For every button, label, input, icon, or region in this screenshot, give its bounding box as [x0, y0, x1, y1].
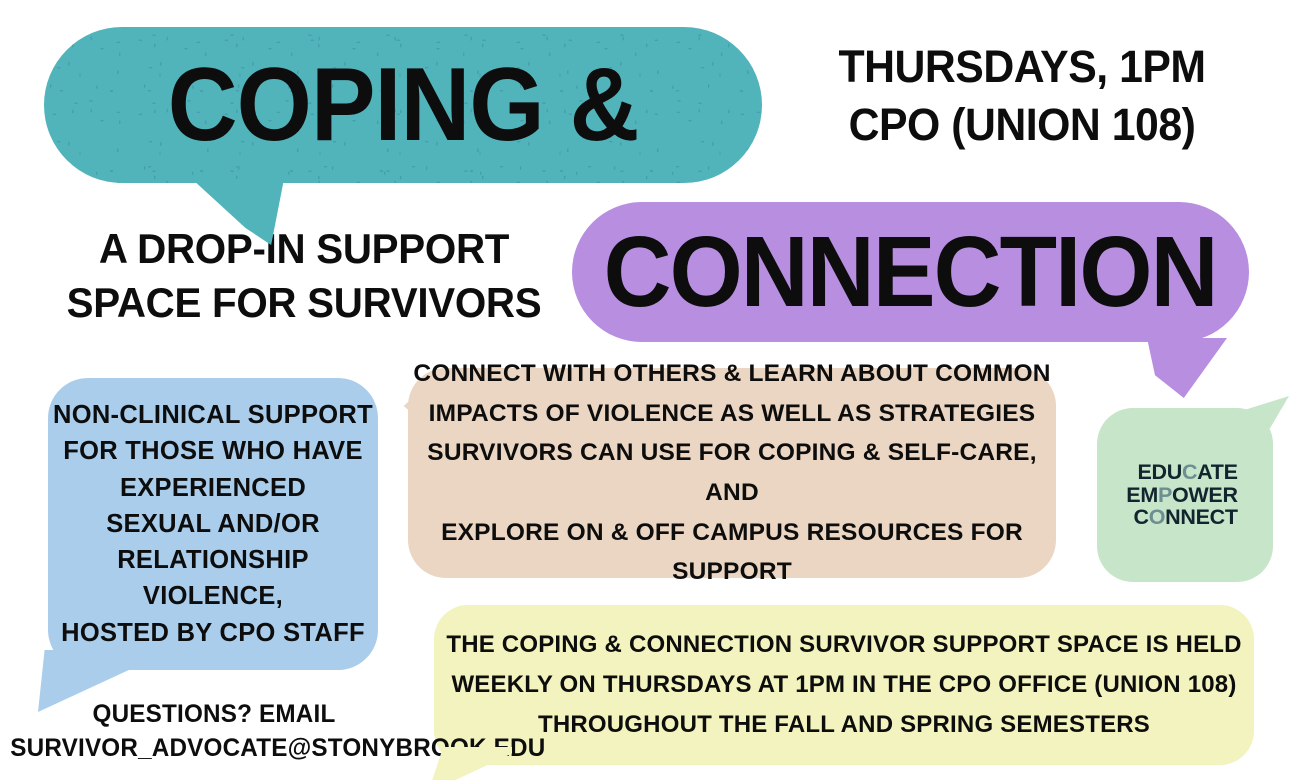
- contact-email-text: QUESTIONS? EMAIL SURVIVOR_ADVOCATE@STONY…: [10, 698, 417, 765]
- logo-line-empower: EMPOWER: [1126, 484, 1237, 506]
- logo-educate-part1: EDU: [1137, 460, 1182, 484]
- logo-empower-accent: P: [1158, 483, 1172, 507]
- logo-line-connect: CONNECT: [1126, 506, 1237, 528]
- non-clinical-support-text: NON-CLINICAL SUPPORT FOR THOSE WHO HAVE …: [48, 397, 378, 650]
- connection-bubble-tail: [1147, 338, 1227, 398]
- non-clinical-support-bubble: NON-CLINICAL SUPPORT FOR THOSE WHO HAVE …: [48, 378, 378, 670]
- cpo-logo: EDUCATE EMPOWER CONNECT: [1126, 461, 1243, 528]
- logo-empower-part1: EM: [1126, 483, 1158, 507]
- logo-empower-part2: OWER: [1172, 483, 1238, 507]
- connect-learn-bubble: CONNECT WITH OTHERS & LEARN ABOUT COMMON…: [408, 368, 1056, 578]
- weekly-schedule-bubble: THE COPING & CONNECTION SURVIVOR SUPPORT…: [434, 605, 1254, 765]
- connect-learn-text: CONNECT WITH OTHERS & LEARN ABOUT COMMON…: [408, 354, 1056, 592]
- connection-headline-text: CONNECTION: [604, 222, 1217, 322]
- connection-headline-bubble: CONNECTION: [572, 202, 1249, 342]
- educate-empower-connect-badge: EDUCATE EMPOWER CONNECT: [1097, 408, 1273, 582]
- logo-line-educate: EDUCATE: [1126, 461, 1237, 483]
- weekly-schedule-text: THE COPING & CONNECTION SURVIVOR SUPPORT…: [446, 625, 1241, 744]
- logo-connect-part1: C: [1133, 505, 1148, 529]
- schedule-heading: THURSDAYS, 1PM CPO (UNION 108): [823, 38, 1222, 153]
- logo-connect-accent: O: [1149, 505, 1165, 529]
- coping-headline-bubble: COPING &: [44, 27, 762, 183]
- logo-educate-accent: C: [1182, 460, 1197, 484]
- coping-headline-text: COPING &: [168, 53, 639, 157]
- logo-connect-part2: NNECT: [1165, 505, 1238, 529]
- subtitle-text: A DROP-IN SUPPORT SPACE FOR SURVIVORS: [54, 222, 553, 330]
- poster-canvas: COPING & THURSDAYS, 1PM CPO (UNION 108) …: [0, 0, 1300, 780]
- logo-educate-part2: ATE: [1197, 460, 1238, 484]
